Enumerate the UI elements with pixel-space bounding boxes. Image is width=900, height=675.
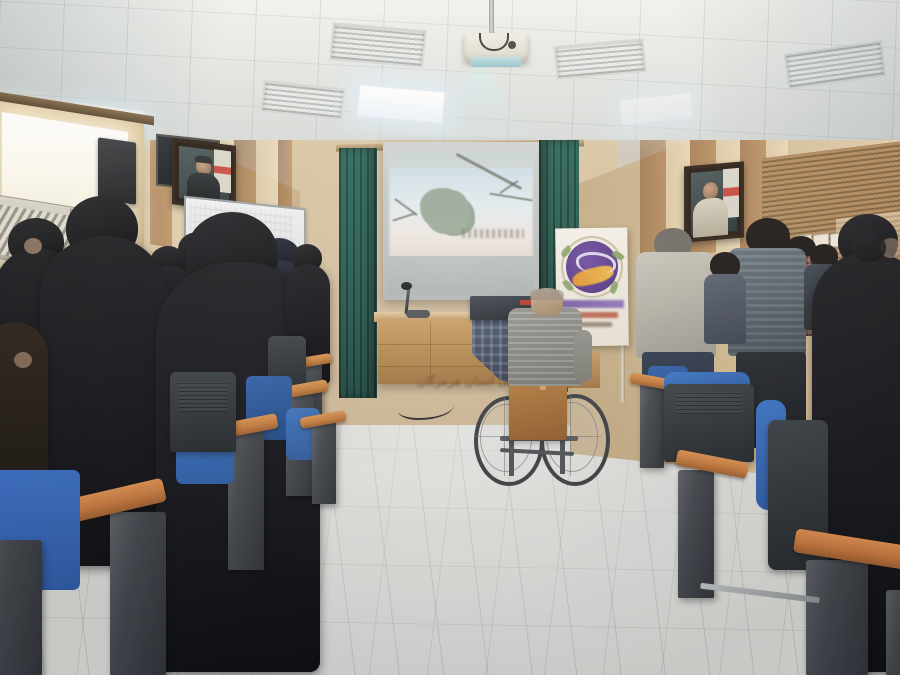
seat-side-panel	[312, 420, 336, 504]
seat-side-panel	[0, 540, 42, 675]
shirt-stripe-texture	[508, 308, 582, 386]
ceiling-vent	[329, 22, 427, 68]
seat-back-vent	[178, 382, 228, 412]
audience-face-hint	[24, 238, 42, 254]
auditorium-photo: بهزیستی استان هرمزگان	[0, 0, 900, 675]
seat-side-panel	[640, 382, 664, 468]
projected-foliage	[424, 190, 470, 234]
audience-hand	[14, 352, 32, 368]
projector-knob-icon	[508, 41, 516, 49]
microphone-icon	[401, 282, 412, 290]
seat-side-panel	[886, 590, 900, 675]
green-stage-curtain-left	[339, 148, 377, 398]
banner-headline-text	[560, 300, 624, 308]
projector-lens	[471, 57, 521, 67]
wall-speaker	[98, 137, 136, 204]
projected-caption-text	[462, 229, 524, 238]
projector-mount-pole	[489, 0, 494, 36]
wheelchair-person-hair	[530, 288, 564, 300]
wheelchair-frame	[509, 440, 514, 476]
seat-side-panel	[678, 470, 714, 598]
seat-side-panel	[806, 560, 868, 675]
framed-portrait-leader	[684, 161, 744, 242]
man-shirt	[704, 274, 746, 344]
seat-back-vent	[676, 392, 742, 414]
seat-side-panel	[110, 512, 166, 675]
wheelchair-frame	[560, 440, 565, 474]
wheelchair-person-arm	[574, 330, 592, 382]
ceiling-shadow-right	[600, 0, 900, 140]
audience-head	[852, 232, 886, 262]
podium-equipment	[406, 310, 430, 318]
